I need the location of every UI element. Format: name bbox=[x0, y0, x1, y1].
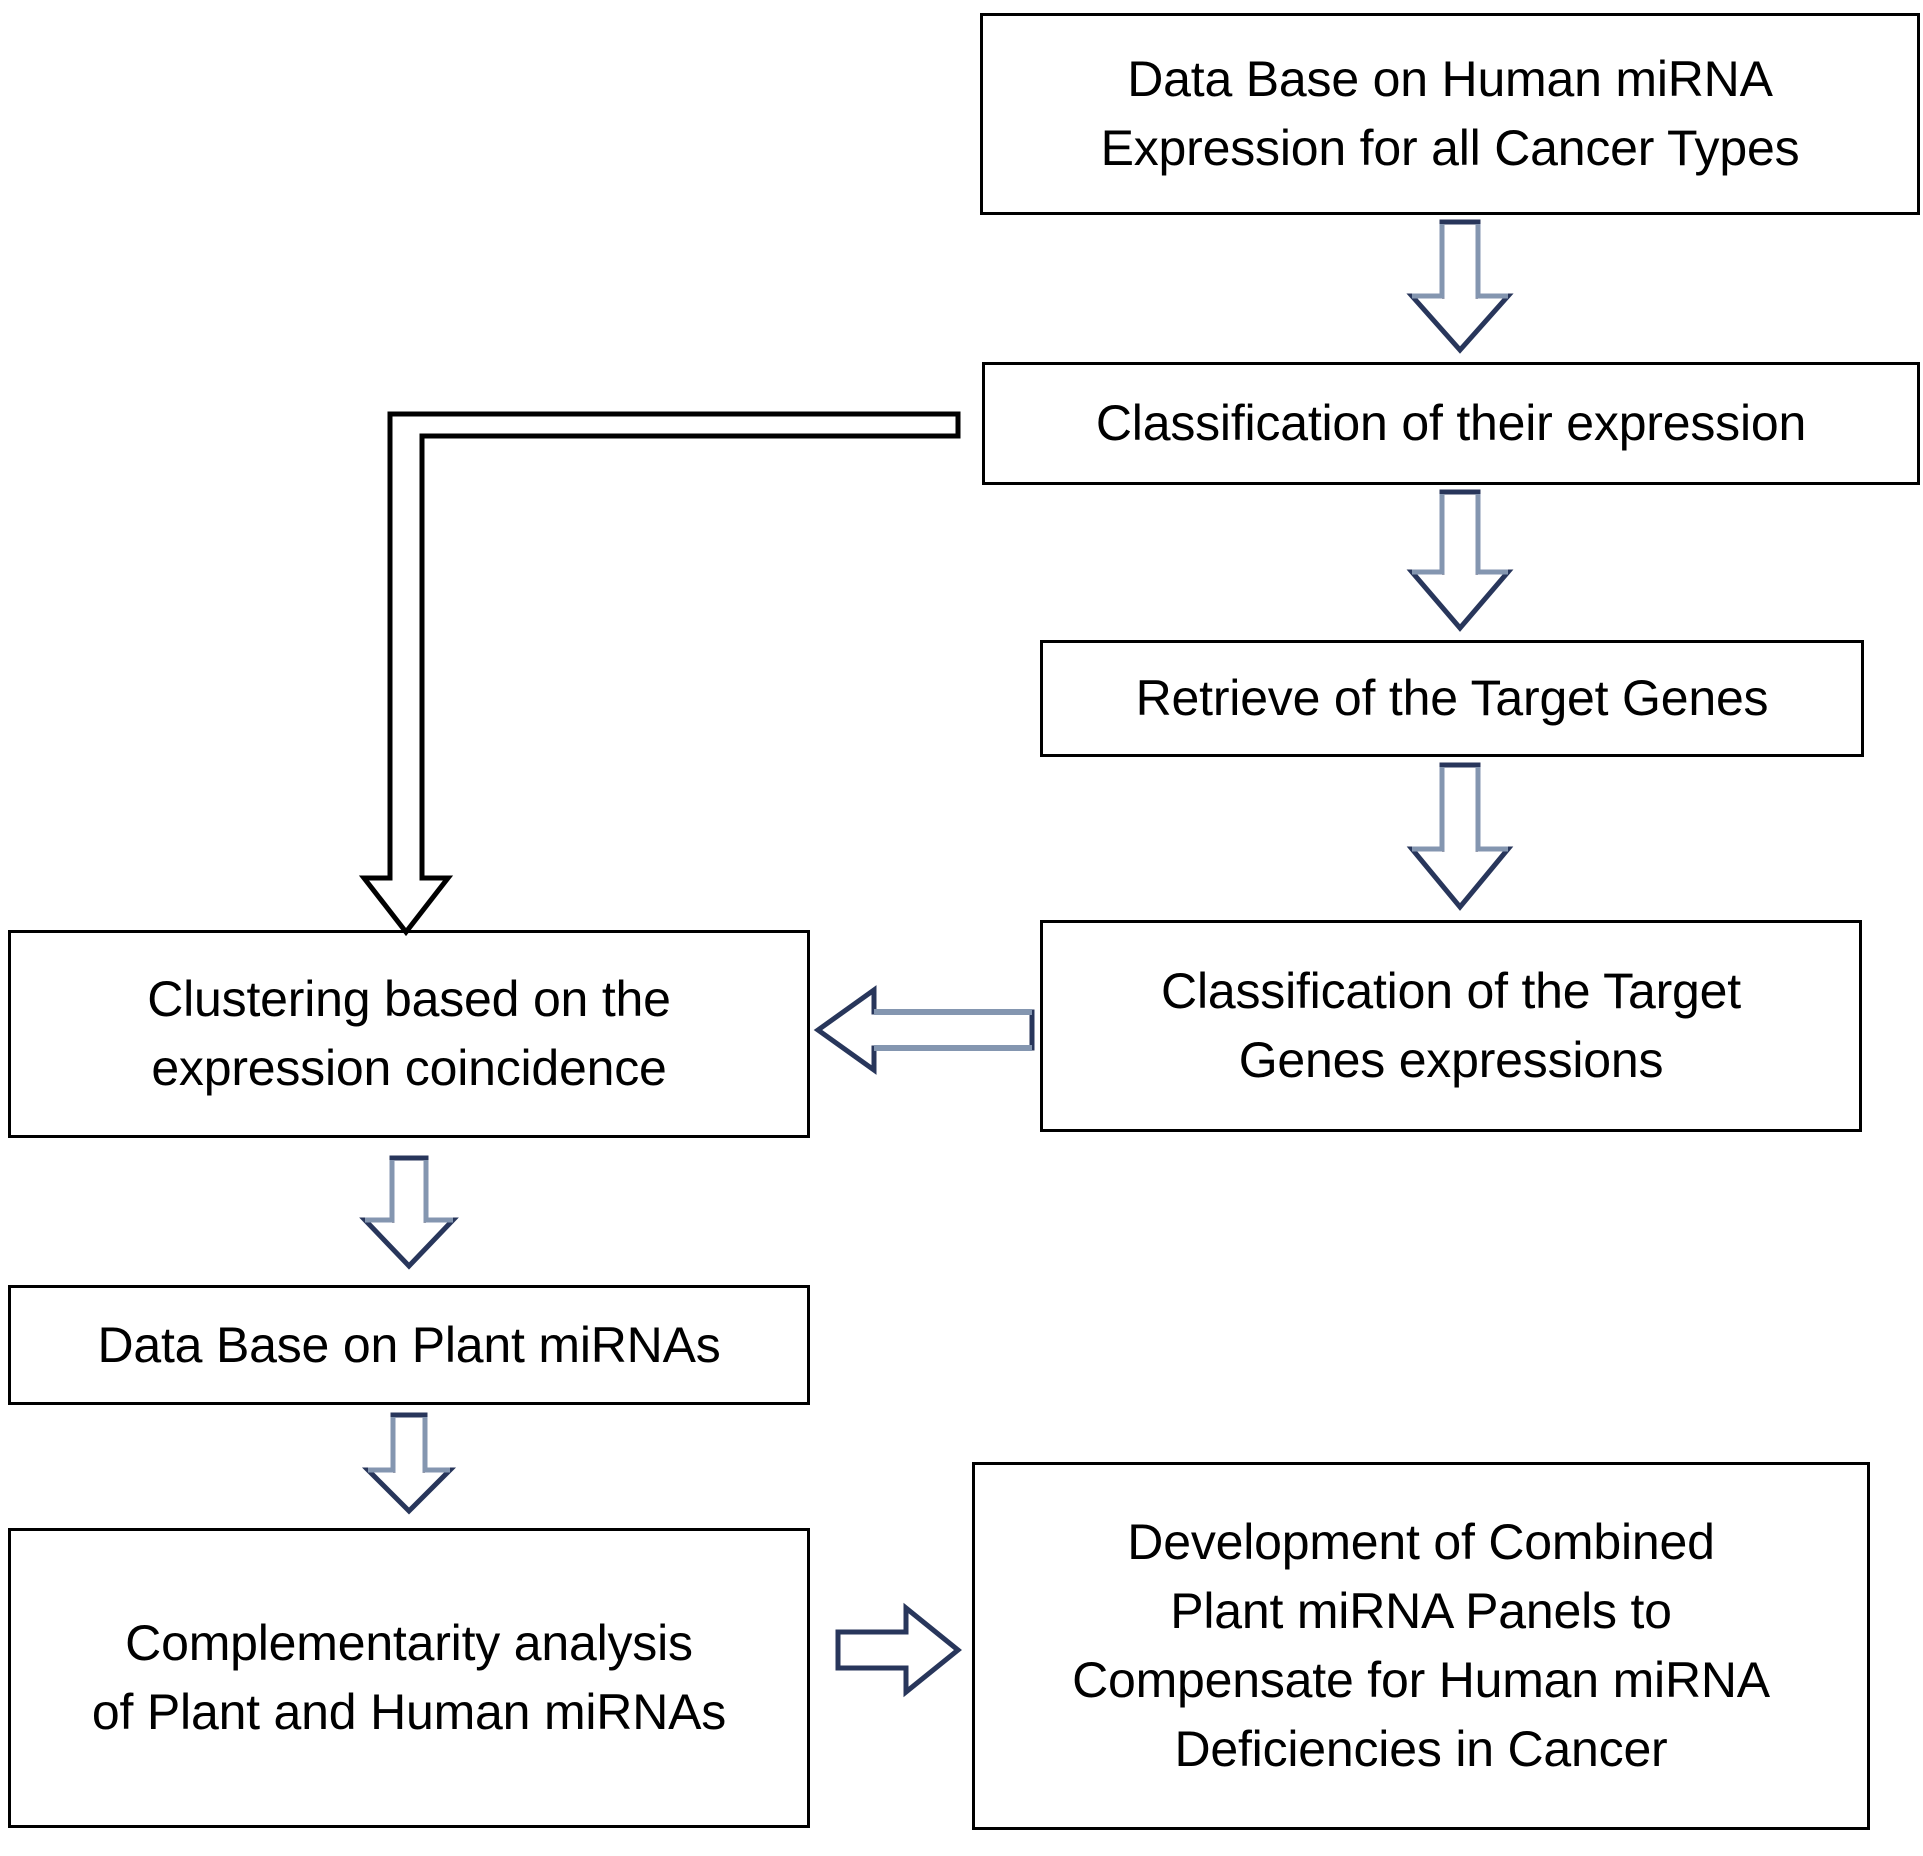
node-clustering-expression-coincidence[interactable]: Clustering based on the expression coinc… bbox=[8, 930, 810, 1138]
node-retrieve-label: Retrieve of the Target Genes bbox=[1057, 664, 1847, 733]
node-clustering-line-1: Clustering based on the bbox=[25, 965, 793, 1034]
node-complement-line-2: of Plant and Human miRNAs bbox=[25, 1678, 793, 1747]
arrow-down-icon-retrieve-to-classification-target bbox=[1400, 765, 1520, 911]
arrow-down-icon-db-to-classification bbox=[1400, 222, 1520, 354]
node-class-target-line-1: Classification of the Target bbox=[1057, 957, 1845, 1026]
node-development-line-2: Plant miRNA Panels to bbox=[989, 1577, 1853, 1646]
node-complement-line-1: Complementarity analysis bbox=[25, 1609, 793, 1678]
node-class-expr-line-1: Classification of their expression bbox=[999, 389, 1903, 458]
node-development-label: Development of Combined Plant miRNA Pane… bbox=[989, 1508, 1853, 1784]
node-db-human-label: Data Base on Human miRNA Expression for … bbox=[997, 45, 1903, 183]
node-retrieve-line-1: Retrieve of the Target Genes bbox=[1057, 664, 1847, 733]
node-clustering-label: Clustering based on the expression coinc… bbox=[25, 965, 793, 1103]
node-db-human[interactable]: Data Base on Human miRNA Expression for … bbox=[980, 13, 1920, 215]
node-clustering-line-2: expression coincidence bbox=[25, 1034, 793, 1103]
node-retrieve-target-genes[interactable]: Retrieve of the Target Genes bbox=[1040, 640, 1864, 757]
node-complement-label: Complementarity analysis of Plant and Hu… bbox=[25, 1609, 793, 1747]
arrow-down-icon-classification-to-retrieve bbox=[1400, 492, 1520, 632]
node-development-line-4: Deficiencies in Cancer bbox=[989, 1715, 1853, 1784]
node-class-expr-label: Classification of their expression bbox=[999, 389, 1903, 458]
node-classification-of-their-expression[interactable]: Classification of their expression bbox=[982, 362, 1920, 485]
node-db-human-line-1: Data Base on Human miRNA bbox=[997, 45, 1903, 114]
node-classification-target-genes[interactable]: Classification of the Target Genes expre… bbox=[1040, 920, 1862, 1132]
node-db-human-line-2: Expression for all Cancer Types bbox=[997, 114, 1903, 183]
node-db-plant-line-1: Data Base on Plant miRNAs bbox=[25, 1311, 793, 1380]
node-db-plant-label: Data Base on Plant miRNAs bbox=[25, 1311, 793, 1380]
arrow-elbow-icon-classification-to-clustering bbox=[392, 406, 958, 936]
node-db-plant-mirnas[interactable]: Data Base on Plant miRNAs bbox=[8, 1285, 810, 1405]
arrow-left-icon-classification-target-to-clustering bbox=[818, 986, 1034, 1074]
arrow-down-icon-db-plant-to-complementarity bbox=[358, 1415, 460, 1515]
node-class-target-label: Classification of the Target Genes expre… bbox=[1057, 957, 1845, 1095]
arrow-down-icon-clustering-to-db-plant bbox=[355, 1158, 463, 1270]
node-development-line-1: Development of Combined bbox=[989, 1508, 1853, 1577]
flowchart-canvas: Data Base on Human miRNA Expression for … bbox=[0, 0, 1923, 1856]
node-development-line-3: Compensate for Human miRNA bbox=[989, 1646, 1853, 1715]
node-class-target-line-2: Genes expressions bbox=[1057, 1026, 1845, 1095]
node-development-combined-panels[interactable]: Development of Combined Plant miRNA Pane… bbox=[972, 1462, 1870, 1830]
arrow-right-icon-complementarity-to-development bbox=[838, 1602, 962, 1698]
node-complementarity-analysis[interactable]: Complementarity analysis of Plant and Hu… bbox=[8, 1528, 810, 1828]
